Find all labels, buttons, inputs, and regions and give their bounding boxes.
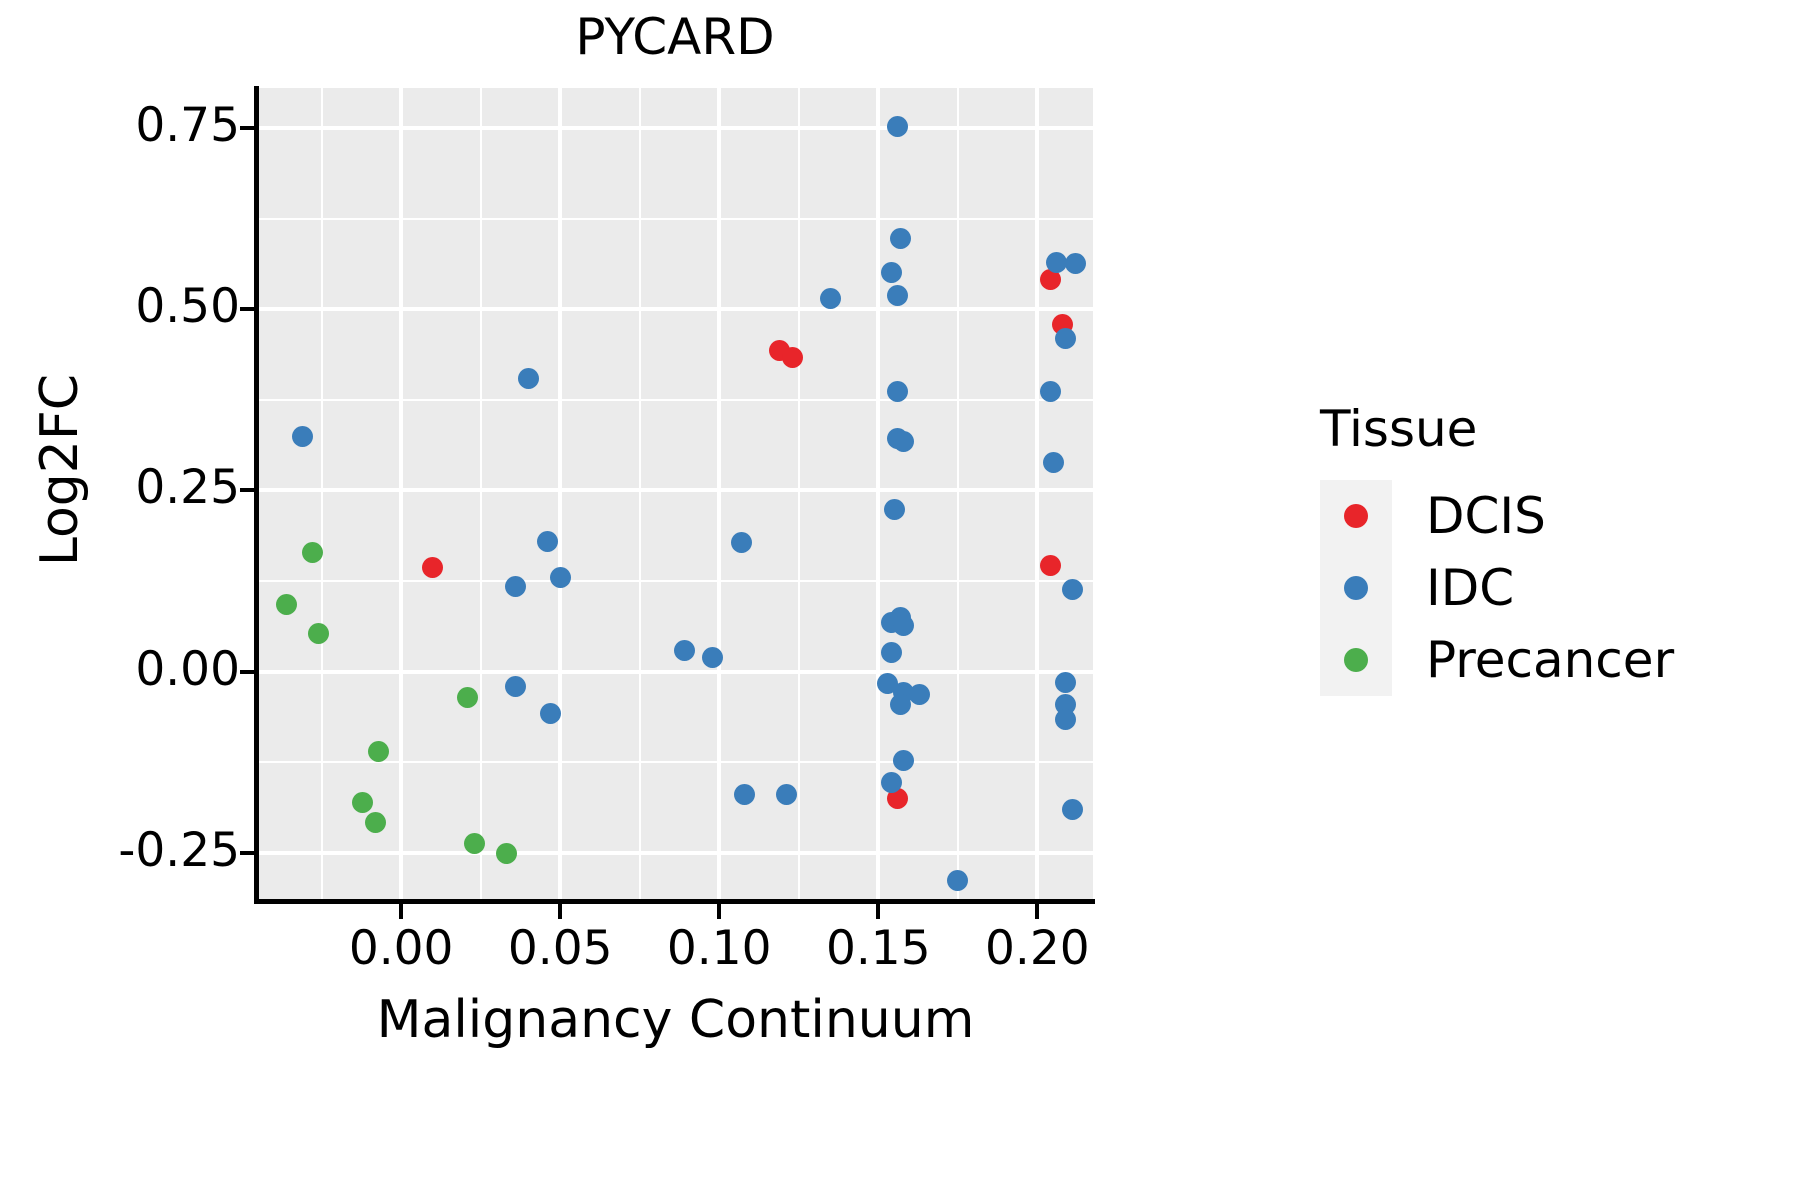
data-point-precancer	[365, 812, 386, 833]
data-point-idc	[890, 694, 911, 715]
legend-title: Tissue	[1320, 400, 1760, 458]
data-point-idc	[1062, 799, 1083, 820]
legend-entries: DCISIDCPrecancer	[1320, 480, 1760, 696]
y-tick-mark	[240, 307, 255, 311]
data-point-idc	[1055, 672, 1076, 693]
data-point-precancer	[302, 542, 323, 563]
y-tick-label: 0.75	[135, 102, 240, 149]
x-tick-label: 0.00	[349, 925, 454, 972]
gridline-y-minor	[258, 399, 1093, 401]
gridline-y-minor	[258, 761, 1093, 763]
data-point-idc	[881, 262, 902, 283]
y-tick-mark	[240, 488, 255, 492]
data-point-idc	[947, 870, 968, 891]
legend: Tissue DCISIDCPrecancer	[1320, 400, 1760, 696]
y-tick-mark	[240, 851, 255, 855]
legend-key-swatch	[1320, 624, 1392, 696]
legend-dot-icon	[1344, 504, 1368, 528]
y-axis-title: Log2FC	[30, 260, 90, 680]
x-tick-label: 0.10	[667, 925, 772, 972]
data-point-idc	[893, 750, 914, 771]
data-point-idc	[505, 676, 526, 697]
data-point-dcis	[782, 347, 803, 368]
gridline-y-major	[258, 851, 1093, 855]
legend-item-idc[interactable]: IDC	[1320, 552, 1760, 624]
data-point-precancer	[464, 833, 485, 854]
data-point-idc	[537, 531, 558, 552]
x-axis-title: Malignancy Continuum	[258, 990, 1093, 1050]
y-axis-line	[254, 86, 259, 904]
legend-item-precancer[interactable]: Precancer	[1320, 624, 1760, 696]
x-axis-line	[254, 899, 1095, 904]
y-tick-label: 0.50	[135, 283, 240, 330]
data-point-idc	[1040, 381, 1061, 402]
legend-key-swatch	[1320, 480, 1392, 552]
gridline-x-major	[876, 88, 880, 900]
data-point-precancer	[308, 623, 329, 644]
x-tick-mark	[1035, 904, 1039, 919]
data-point-idc	[1046, 252, 1067, 273]
data-point-idc	[674, 640, 695, 661]
legend-item-label: Precancer	[1426, 635, 1674, 685]
data-point-idc	[550, 567, 571, 588]
data-point-idc	[893, 431, 914, 452]
data-point-idc	[890, 228, 911, 249]
gridline-y-major	[258, 670, 1093, 674]
data-point-precancer	[496, 843, 517, 864]
data-point-dcis	[422, 557, 443, 578]
gridline-x-minor	[798, 88, 800, 900]
gridline-x-major	[717, 88, 721, 900]
gridline-x-minor	[957, 88, 959, 900]
y-tick-label: 0.00	[135, 646, 240, 693]
data-point-idc	[887, 381, 908, 402]
data-point-idc	[702, 647, 723, 668]
data-point-idc	[887, 285, 908, 306]
gridline-y-minor	[258, 218, 1093, 220]
gridline-y-minor	[258, 580, 1093, 582]
gridline-x-minor	[480, 88, 482, 900]
gridline-y-major	[258, 307, 1093, 311]
data-point-idc	[909, 684, 930, 705]
x-tick-mark	[717, 904, 721, 919]
gridline-y-major	[258, 126, 1093, 130]
legend-item-label: DCIS	[1426, 491, 1546, 541]
y-tick-label: 0.25	[135, 464, 240, 511]
data-point-precancer	[368, 741, 389, 762]
data-point-precancer	[276, 594, 297, 615]
x-tick-label: 0.05	[508, 925, 613, 972]
data-point-idc	[1043, 452, 1064, 473]
data-point-idc	[1062, 579, 1083, 600]
data-point-precancer	[457, 687, 478, 708]
legend-item-dcis[interactable]: DCIS	[1320, 480, 1760, 552]
data-point-idc	[881, 772, 902, 793]
data-point-idc	[893, 615, 914, 636]
page-title: PYCARD	[255, 8, 1095, 66]
data-point-idc	[292, 426, 313, 447]
x-tick-label: 0.15	[826, 925, 931, 972]
legend-item-label: IDC	[1426, 563, 1514, 613]
x-tick-mark	[876, 904, 880, 919]
gridline-x-major	[399, 88, 403, 900]
data-point-idc	[881, 642, 902, 663]
legend-key-swatch	[1320, 552, 1392, 624]
x-tick-label: 0.20	[985, 925, 1090, 972]
data-point-idc	[1055, 328, 1076, 349]
gridline-y-major	[258, 488, 1093, 492]
data-point-idc	[884, 499, 905, 520]
data-point-precancer	[352, 792, 373, 813]
data-point-dcis	[1040, 555, 1061, 576]
data-point-idc	[518, 368, 539, 389]
data-point-idc	[820, 288, 841, 309]
data-point-idc	[731, 532, 752, 553]
data-point-idc	[505, 576, 526, 597]
y-tick-label: -0.25	[118, 827, 240, 874]
data-point-idc	[887, 116, 908, 137]
legend-dot-icon	[1344, 576, 1368, 600]
y-tick-mark	[240, 126, 255, 130]
y-tick-mark	[240, 670, 255, 674]
scatter-plot-figure: PYCARD -0.250.000.250.500.75 0.000.050.1…	[0, 0, 1800, 1200]
plot-panel	[258, 88, 1093, 900]
x-tick-mark	[399, 904, 403, 919]
gridline-x-minor	[321, 88, 323, 900]
gridline-x-major	[558, 88, 562, 900]
gridline-x-minor	[639, 88, 641, 900]
data-point-idc	[734, 784, 755, 805]
legend-dot-icon	[1344, 648, 1368, 672]
data-point-idc	[776, 784, 797, 805]
data-point-idc	[1065, 253, 1086, 274]
data-point-idc	[1055, 709, 1076, 730]
x-tick-mark	[558, 904, 562, 919]
gridline-x-major	[1035, 88, 1039, 900]
